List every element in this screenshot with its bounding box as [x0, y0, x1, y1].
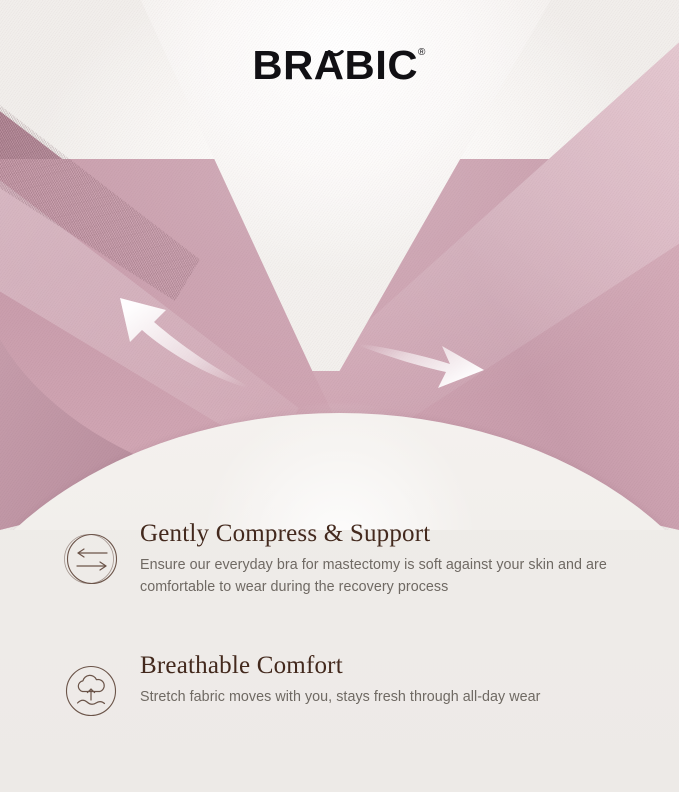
registered-trademark-symbol: ® — [418, 48, 425, 58]
feature-text: Gently Compress & Support Ensure our eve… — [140, 520, 633, 598]
brand-logo: BRABIC ® — [0, 0, 679, 130]
brand-name: BRABIC — [252, 45, 418, 86]
feature-description: Ensure our everyday bra for mastectomy i… — [140, 555, 610, 598]
feature-item: Breathable Comfort Stretch fabric moves … — [0, 652, 679, 720]
brand-lockup: BRABIC ® — [254, 45, 426, 86]
feature-list: Gently Compress & Support Ensure our eve… — [0, 520, 679, 720]
feature-title: Gently Compress & Support — [140, 520, 633, 548]
breathable-cloud-icon — [62, 662, 120, 720]
feature-description: Stretch fabric moves with you, stays fre… — [140, 687, 610, 709]
stretch-arrows-glyph — [62, 530, 120, 588]
feature-text: Breathable Comfort Stretch fabric moves … — [140, 652, 633, 709]
product-feature-page: BRABIC ® Gently Compress & Suppo — [0, 0, 679, 792]
fabric-bottom-glow — [204, 403, 476, 530]
stretch-arrows-icon — [62, 530, 120, 588]
feature-item: Gently Compress & Support Ensure our eve… — [0, 520, 679, 598]
breathable-cloud-glyph — [62, 662, 120, 720]
feature-title: Breathable Comfort — [140, 652, 633, 680]
